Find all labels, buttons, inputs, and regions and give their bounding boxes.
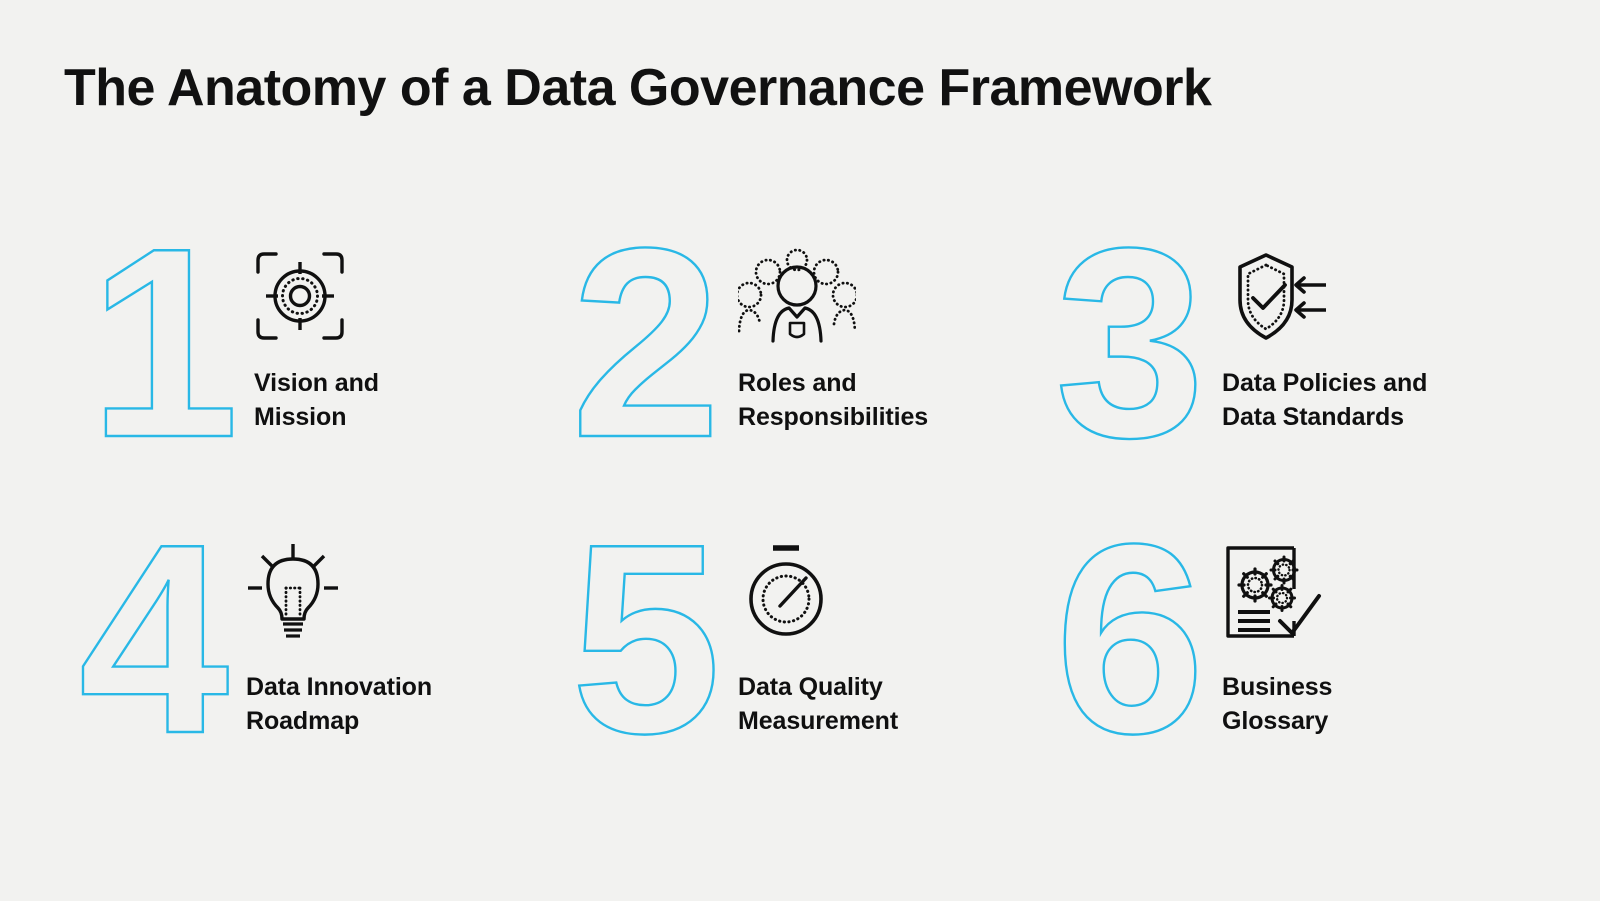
lightbulb-icon [246,540,432,644]
numeral-4-glyph: 4 [79,489,231,790]
framework-item-2-content: Roles and Responsibilities [738,236,928,435]
framework-item-6: 6 [1036,532,1522,828]
numeral-5-glyph: 5 [571,489,721,790]
framework-item-6-label: Business Glossary [1222,670,1332,739]
framework-item-1-content: Vision and Mission [254,236,379,435]
document-gears-check-icon [1222,540,1332,644]
numeral-1: 1 [74,236,254,466]
page-title: The Anatomy of a Data Governance Framewo… [64,58,1211,118]
numeral-5: 5 [556,532,736,762]
framework-item-6-content: Business Glossary [1222,532,1332,739]
people-network-icon [738,244,928,348]
numeral-3-glyph: 3 [1055,193,1205,494]
framework-item-2-label: Roles and Responsibilities [738,366,928,435]
infographic-canvas: The Anatomy of a Data Governance Framewo… [0,0,1600,901]
numeral-3: 3 [1040,236,1220,466]
stopwatch-gauge-icon [738,540,898,644]
framework-item-5-content: Data Quality Measurement [738,532,898,739]
framework-item-5: 5 Data Quality Measuremen [550,532,1036,828]
framework-item-4-content: Data Innovation Roadmap [246,532,432,739]
framework-item-grid: 1 [64,236,1524,828]
numeral-4: 4 [64,532,244,762]
target-crosshair-icon [254,244,379,348]
framework-item-4: 4 [64,532,550,828]
numeral-1-glyph: 1 [89,193,239,494]
framework-item-1-label: Vision and Mission [254,366,379,435]
shield-check-icon [1222,244,1427,348]
framework-item-2: 2 [550,236,1036,532]
numeral-2-glyph: 2 [571,193,721,494]
framework-item-3-content: Data Policies and Data Standards [1222,236,1427,435]
numeral-6: 6 [1040,532,1220,762]
framework-item-3: 3 [1036,236,1522,532]
numeral-6-glyph: 6 [1055,489,1205,790]
framework-item-1: 1 [64,236,550,532]
framework-item-3-label: Data Policies and Data Standards [1222,366,1427,435]
framework-item-4-label: Data Innovation Roadmap [246,670,432,739]
framework-item-5-label: Data Quality Measurement [738,670,898,739]
numeral-2: 2 [556,236,736,466]
